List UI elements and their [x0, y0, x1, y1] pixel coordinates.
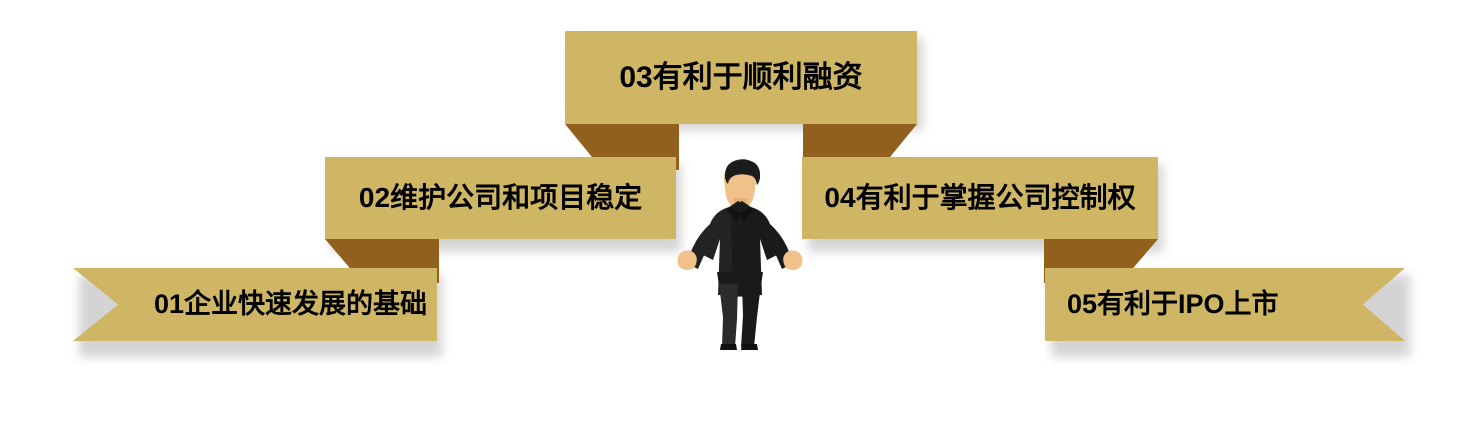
step-label-02: 02维护公司和项目稳定: [359, 184, 642, 212]
step-label-04: 04有利于掌握公司控制权: [824, 184, 1135, 212]
step-label-05: 05有利于IPO上市: [1067, 291, 1279, 318]
step-banner-05[interactable]: 05有利于IPO上市: [1045, 268, 1405, 341]
step-label-03: 03有利于顺利融资: [619, 63, 862, 93]
step-label-01: 01企业快速发展的基础: [154, 291, 427, 318]
step-banner-04[interactable]: 04有利于掌握公司控制权: [802, 157, 1158, 239]
businessman-illustration: [672, 156, 808, 352]
diagram-canvas: 03有利于顺利融资 02维护公司和项目稳定 04有利于掌握公司控制权 01企业快…: [0, 0, 1478, 446]
step-banner-01[interactable]: 01企业快速发展的基础: [73, 268, 437, 341]
step-banner-03[interactable]: 03有利于顺利融资: [565, 31, 917, 124]
step-banner-02[interactable]: 02维护公司和项目稳定: [325, 157, 676, 239]
